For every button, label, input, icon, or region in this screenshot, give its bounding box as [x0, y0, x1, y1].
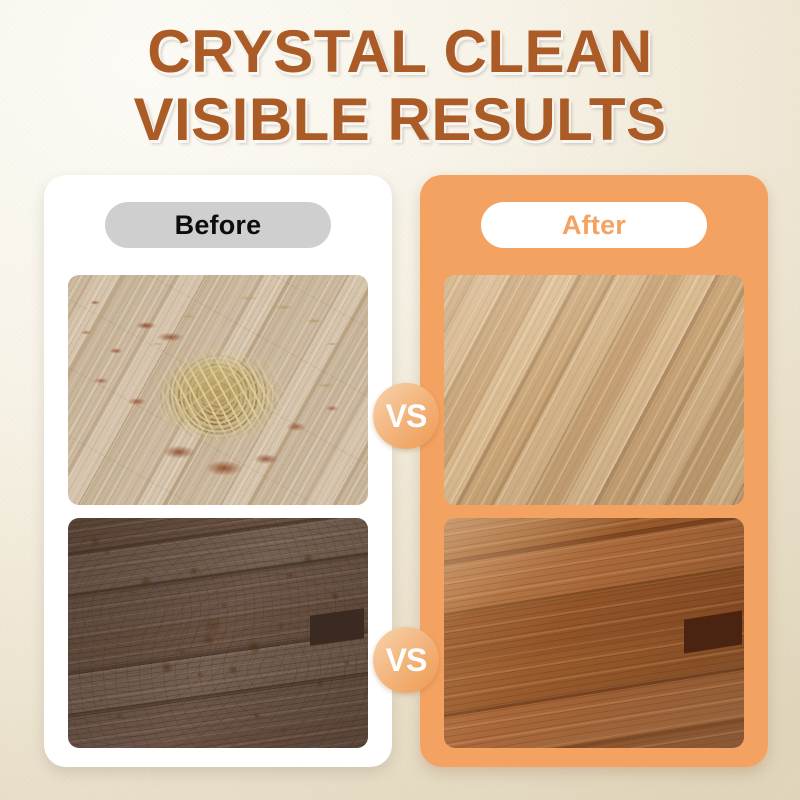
after-photo-clean-light-floor	[444, 275, 744, 505]
vs-badge-bottom: VS	[373, 627, 439, 693]
vs-badge-top: VS	[373, 383, 439, 449]
headline-line-1: CRYSTAL CLEAN	[0, 22, 800, 82]
before-label-pill: Before	[105, 202, 331, 248]
dark-plank-patch	[68, 518, 368, 748]
vs-badge-bottom-label: VS	[386, 644, 427, 676]
spaghetti-strands	[68, 275, 368, 505]
clean-wood-grain	[444, 275, 744, 505]
before-panel: Before	[44, 175, 392, 767]
before-label-text: Before	[175, 210, 262, 241]
vs-badge-top-label: VS	[386, 400, 427, 432]
after-photo-clean-dark-floor	[444, 518, 744, 748]
before-after-comparison: Before After	[44, 175, 768, 767]
after-panel: After	[420, 175, 768, 767]
headline-line-2: VISIBLE RESULTS	[0, 90, 800, 150]
after-label-pill: After	[481, 202, 707, 248]
after-label-text: After	[562, 210, 626, 241]
dark-plank-patch	[444, 518, 744, 748]
before-photo-spaghetti	[68, 275, 368, 505]
page-title: CRYSTAL CLEAN VISIBLE RESULTS	[0, 22, 800, 150]
before-photo-stained-floor	[68, 518, 368, 748]
